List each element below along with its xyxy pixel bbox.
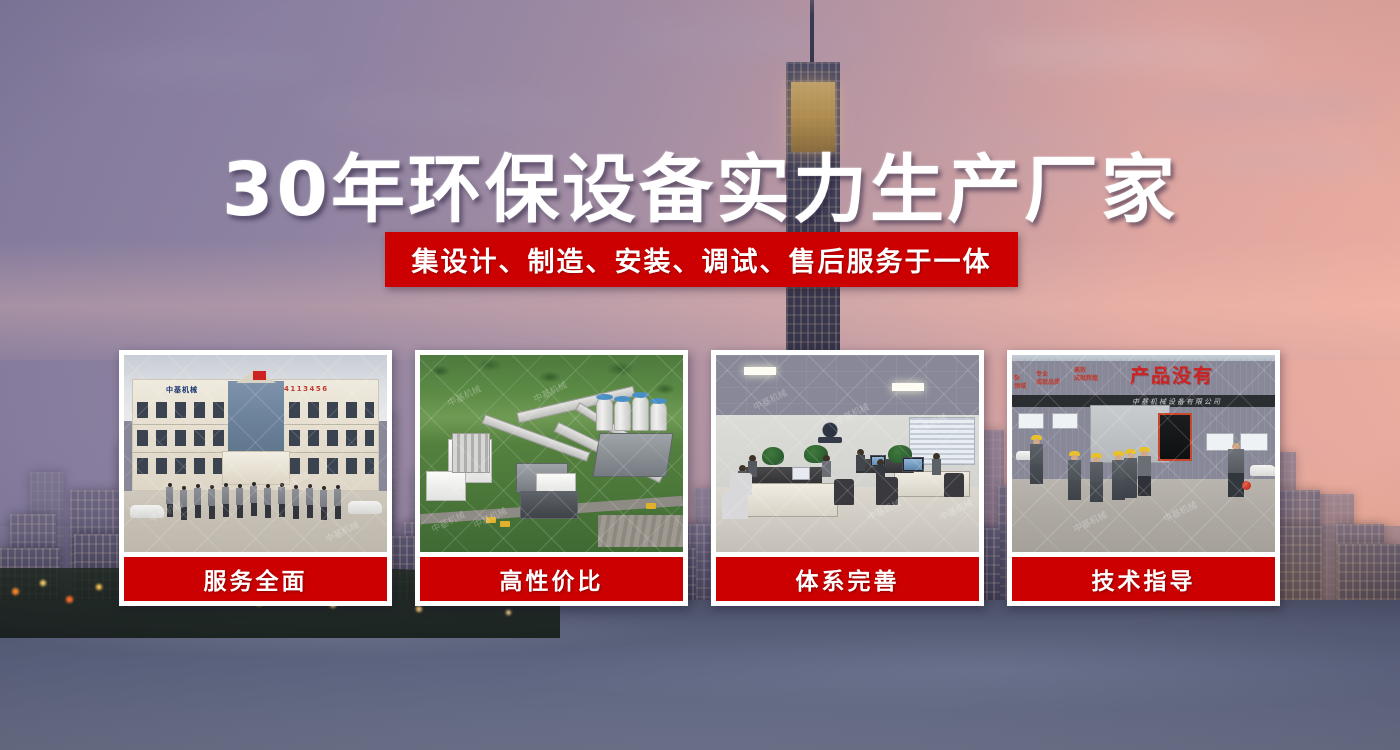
office-interior-staff-photo: 中基机械 中基机械 中基机械 中基机械 中基机械 — [716, 355, 979, 552]
aerial-industrial-plant-photo: 中基机械 中基机械 中基机械 中基机械 — [420, 355, 683, 552]
office-building-staff-photo: 中基机械 4113456 — [124, 355, 387, 552]
feature-card-label: 服务全面 — [124, 557, 387, 601]
subtitle-banner: 集设计、制造、安装、调试、售后服务于一体 — [385, 232, 1018, 287]
feature-card-label: 技术指导 — [1012, 557, 1275, 601]
feature-card-system[interactable]: 中基机械 中基机械 中基机械 中基机械 中基机械 体系完善 — [711, 350, 984, 606]
feature-card-label: 体系完善 — [716, 557, 979, 601]
feature-card-value[interactable]: 中基机械 中基机械 中基机械 中基机械 高性价比 — [415, 350, 688, 606]
promotional-banner: 30年环保设备实力生产厂家 集设计、制造、安装、调试、售后服务于一体 — [0, 0, 1400, 750]
feature-card-service[interactable]: 中基机械 4113456 — [119, 350, 392, 606]
subtitle-text: 集设计、制造、安装、调试、售后服务于一体 — [412, 240, 992, 279]
factory-wall-headline: 产品没有 — [1130, 361, 1214, 388]
building-sign-text: 中基机械 — [166, 385, 198, 395]
feature-card-guidance[interactable]: 产品没有 新领域 专业成就品质 高效成就辉煌 中基机械设备有限公司 — [1007, 350, 1280, 606]
page-title: 30年环保设备实力生产厂家 — [0, 130, 1400, 237]
feature-card-list: 中基机械 4113456 — [119, 350, 1285, 606]
feature-card-label: 高性价比 — [420, 557, 683, 601]
factory-workers-training-photo: 产品没有 新领域 专业成就品质 高效成就辉煌 中基机械设备有限公司 — [1012, 355, 1275, 552]
building-phone-text: 4113456 — [284, 385, 329, 393]
